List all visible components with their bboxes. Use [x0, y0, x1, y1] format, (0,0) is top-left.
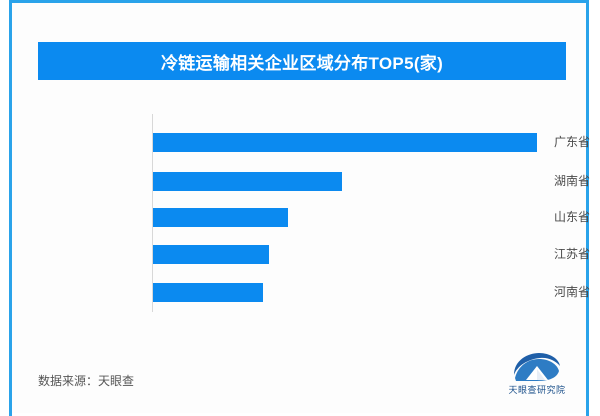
chart-row: 湖南省: [0, 172, 600, 191]
chart-row: 广东省: [0, 133, 600, 152]
bar-category-label: 山东省: [450, 208, 600, 227]
bar-item[interactable]: [153, 133, 537, 152]
bar-item[interactable]: [153, 208, 288, 227]
bar-category-label: 河南省: [450, 283, 600, 302]
chart-row: 河南省: [0, 283, 600, 302]
screenshot-root: 冷链运输相关企业区域分布TOP5(家) 广东省 湖南省 山东省 江苏省 河南省 …: [0, 0, 600, 416]
logo-text: 天眼查研究院: [498, 383, 576, 396]
chart-row: 江苏省: [0, 245, 600, 264]
bar-category-label: 江苏省: [450, 245, 600, 264]
bar-category-label: 湖南省: [450, 172, 600, 191]
tianyancha-eye-arch-logo-icon: [512, 352, 562, 382]
data-source-label: 数据来源：天眼查: [38, 372, 134, 389]
bar-item[interactable]: [153, 172, 342, 191]
chart-row: 山东省: [0, 208, 600, 227]
brand-logo: 天眼查研究院: [498, 352, 576, 402]
bar-item[interactable]: [153, 283, 263, 302]
bar-item[interactable]: [153, 245, 269, 264]
